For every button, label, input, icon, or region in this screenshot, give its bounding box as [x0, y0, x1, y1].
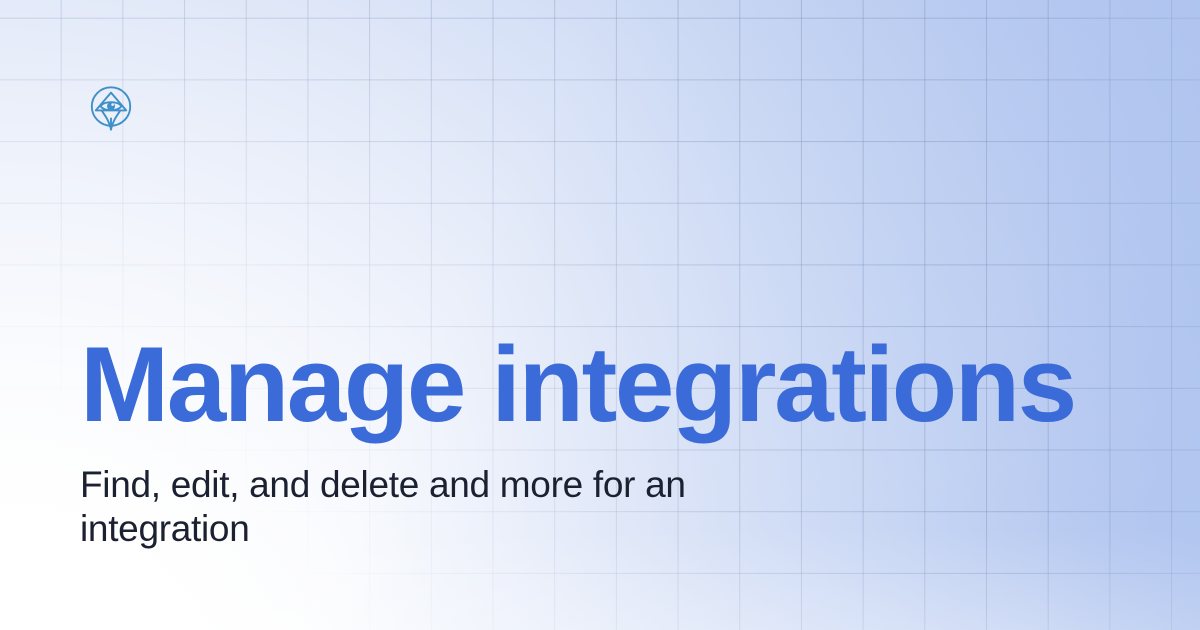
page-subtitle: Find, edit, and delete and more for an i…: [80, 463, 740, 550]
og-card: Manage integrations Find, edit, and dele…: [0, 0, 1200, 630]
hero-content: Manage integrations Find, edit, and dele…: [80, 330, 1140, 550]
page-title: Manage integrations: [80, 330, 1140, 439]
brand-logo: [85, 82, 137, 134]
eye-triangle-logo-icon: [85, 82, 137, 134]
